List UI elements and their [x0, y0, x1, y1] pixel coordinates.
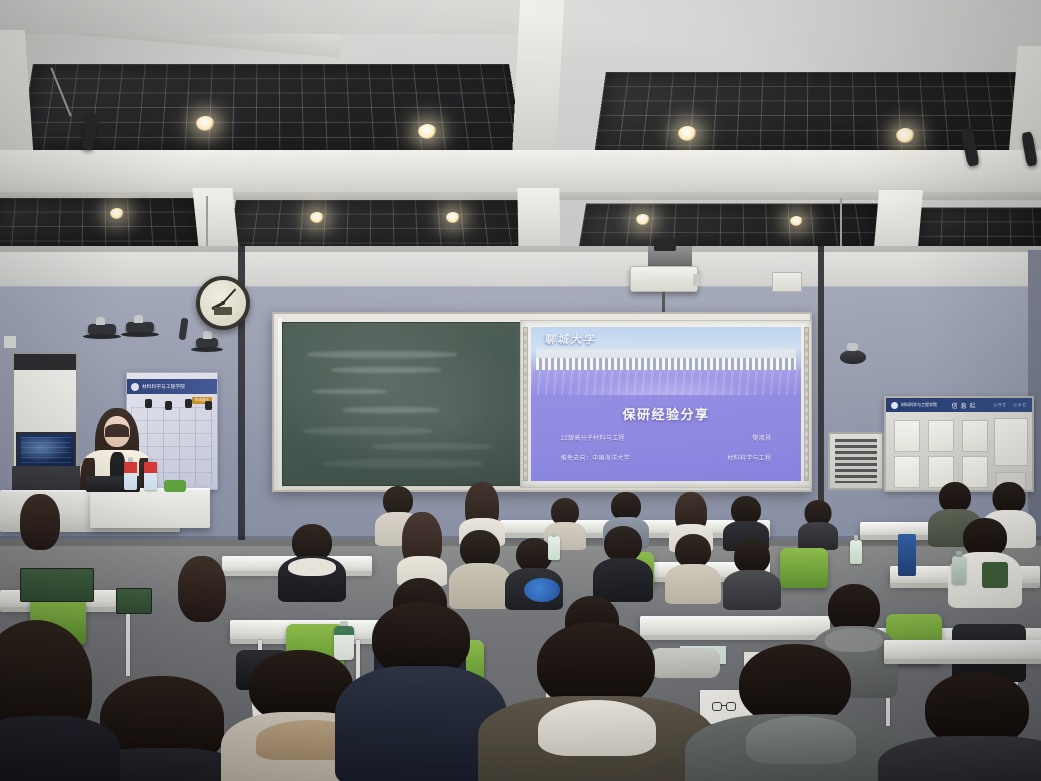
slide-presenter-name: 樊淑慧: [752, 433, 771, 442]
ceiling-projector: [630, 266, 698, 292]
student-fg-3: [356, 602, 486, 781]
monitor-screen: [21, 437, 71, 463]
green-item-on-desk: [164, 480, 186, 492]
whiteboard-header: [14, 354, 76, 370]
presenter-fringe: [105, 424, 129, 437]
downlight-3: [678, 126, 697, 141]
poster-clip-3: [185, 399, 192, 408]
notice-header-center: 信息栏: [952, 401, 979, 410]
chair-mid-1: [780, 548, 828, 588]
clock-center: [221, 301, 225, 305]
poster-clip-4: [205, 401, 212, 410]
notice-sheet-5: [894, 456, 920, 488]
poster-header-text: 材料科学与工程学院: [142, 384, 185, 390]
water-bottle-mid-3: [952, 556, 966, 584]
ceiling-beam-vertical-2c: [873, 190, 923, 250]
laptop-1: [20, 568, 94, 602]
clock-date-window: [214, 307, 232, 315]
student-far-10: [18, 494, 62, 552]
slide-major: 22级高分子材料与工程: [561, 433, 625, 442]
drink-bottle-1-label: [124, 462, 137, 473]
student-hood: [288, 558, 336, 576]
notice-sheet-3: [962, 420, 988, 452]
poster-logo-icon: [131, 383, 139, 391]
student-fg-4: [496, 622, 696, 781]
poster-clip-1: [145, 399, 152, 408]
projection-screen: 聊城大学 保研经验分享 22级高分子材料与工程 樊淑慧 推免去向：中国海洋大学 …: [520, 320, 812, 488]
student-body: [723, 570, 781, 610]
slide-line-2: 推免去向：中国海洋大学 材料科学与工程: [561, 453, 772, 462]
classroom-photo: 材料科学与工程学院 学术报告 材料科学与工程学院 信息栏 公开栏 · 公示栏: [0, 0, 1041, 781]
student-mid-7: [726, 540, 778, 604]
student-hood: [538, 700, 656, 756]
notice-logo-icon: [891, 402, 898, 409]
student-hair: [178, 556, 226, 622]
podium-monitor: [16, 432, 76, 468]
drink-bottle-2-label: [144, 462, 157, 473]
board-rail-left: [278, 318, 282, 490]
slide-title: 保研经验分享: [622, 404, 709, 423]
downlight-2: [418, 124, 437, 139]
student-body: [0, 716, 120, 781]
pendant-rod-right: [840, 198, 842, 246]
slide-header-photo: 聊城大学: [531, 327, 801, 398]
student-body: [665, 564, 721, 604]
notice-sheet-1: [894, 420, 920, 452]
notice-sheet-2: [928, 420, 954, 452]
student-mid-1: [282, 524, 342, 596]
student-head: [516, 538, 552, 572]
slide-body: 保研经验分享 22级高分子材料与工程 樊淑慧 推免去向：中国海洋大学 材料科学与…: [531, 395, 801, 481]
screen-rail-right: [804, 327, 809, 481]
pendant-rod-left: [206, 196, 208, 250]
slide-university-calligraphy: 聊城大学: [543, 331, 597, 347]
wall-seam-1: [0, 286, 1041, 287]
student-fg-7: [0, 620, 110, 781]
downlight-5: [110, 208, 124, 219]
ptz-wall-camera-1: [88, 324, 116, 335]
student-hood: [746, 716, 856, 764]
student-body: [798, 522, 838, 550]
wall-sign: [772, 272, 802, 292]
downlight-1: [196, 116, 215, 131]
downlight-7: [446, 212, 460, 223]
notice-header-right: 公开栏 · 公示栏: [993, 403, 1027, 408]
ceiling-beam-vertical-2b: [517, 188, 560, 250]
ceiling-upper-right: [560, 0, 1041, 62]
student-mid-5: [596, 526, 650, 596]
water-bottle-mid-1: [548, 536, 560, 560]
wall-upper-band: [0, 246, 1041, 286]
slide-destination-major: 材料科学与工程: [727, 453, 771, 462]
downlight-4: [896, 128, 915, 143]
notice-board: 材料科学与工程学院 信息栏 公开栏 · 公示栏: [884, 396, 1034, 492]
ptz-wall-camera-3: [196, 338, 218, 348]
poster-header: 材料科学与工程学院: [127, 379, 217, 394]
chalkboard: [282, 322, 524, 486]
screen-rail-left: [523, 327, 528, 481]
slide-destination: 推免去向：中国海洋大学: [561, 453, 630, 462]
downlight-6: [310, 212, 324, 223]
student-head: [675, 534, 711, 568]
wall-ac-cabinet: [828, 432, 884, 490]
slide-plaza: [531, 370, 801, 398]
student-mid-3: [452, 530, 508, 602]
notice-sheet-4: [994, 418, 1028, 466]
laptop-2: [116, 588, 152, 614]
ptz-wall-camera-2: [126, 322, 154, 333]
slide-line-1: 22级高分子材料与工程 樊淑慧: [561, 433, 772, 442]
poster-clip-2: [165, 401, 172, 410]
notice-header-left: 材料科学与工程学院: [901, 402, 937, 408]
student-head: [734, 540, 770, 574]
student-fg-6: [892, 672, 1041, 781]
presentation-slide: 聊城大学 保研经验分享 22级高分子材料与工程 樊淑慧 推免去向：中国海洋大学 …: [531, 327, 801, 481]
ceiling-beam-vertical-center: [511, 0, 564, 166]
podium-desk-right: [90, 488, 210, 528]
wall-outlet: [4, 336, 16, 348]
shirt-graphic: [982, 562, 1008, 588]
desk-fg-right: [884, 640, 1041, 660]
wall-top-shadow: [0, 246, 1041, 252]
water-bottle-mid-2: [850, 540, 862, 564]
wall-clock: [196, 276, 250, 330]
ceiling: [0, 0, 1041, 250]
student-mid-6: [668, 534, 718, 598]
ac-louver: [835, 439, 877, 483]
downlight-8: [636, 214, 650, 225]
ceiling-beam-vertical-2a: [192, 188, 239, 250]
tumbler-lid: [334, 626, 354, 635]
ceiling-grille-panel-4: [228, 200, 527, 250]
student-hair: [20, 494, 60, 550]
ceiling-grille-panel-6: [916, 208, 1041, 250]
carton-on-desk: [898, 534, 916, 576]
student-far-7: [800, 500, 836, 548]
notice-board-header: 材料科学与工程学院 信息栏 公开栏 · 公示栏: [886, 398, 1032, 412]
student-head: [604, 526, 642, 562]
student-fg-5: [700, 644, 890, 781]
downlight-9: [790, 216, 803, 226]
ceiling-grille-panel-3: [0, 198, 203, 250]
ceiling-camera-icon: [654, 238, 676, 251]
student-body: [878, 736, 1041, 781]
wall-speaker: [840, 350, 866, 364]
student-mid-2: [400, 512, 444, 578]
student-near-1: [176, 556, 228, 630]
